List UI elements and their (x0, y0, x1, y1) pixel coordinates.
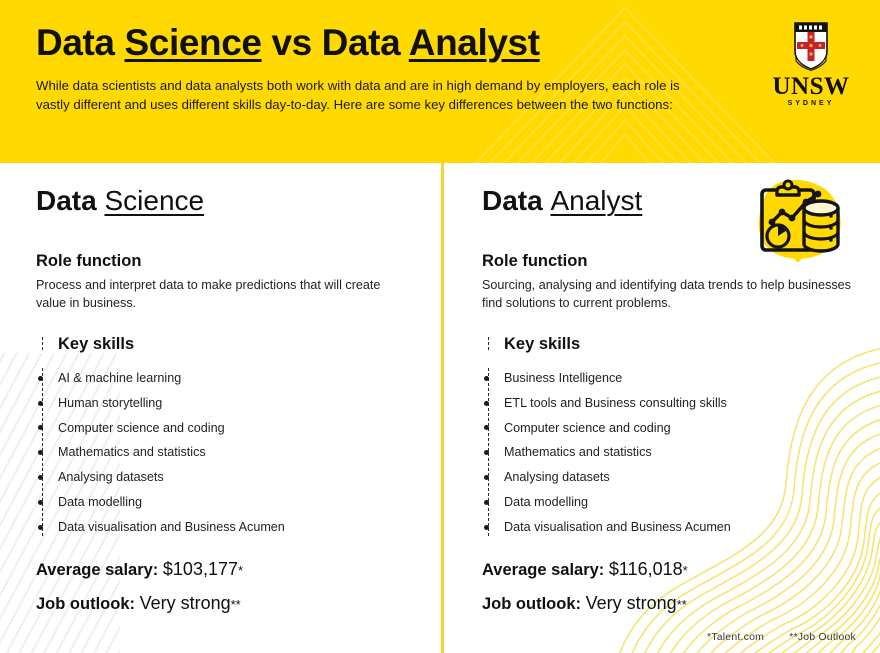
footnote-outlook-source: **Job Outlook (789, 631, 856, 643)
unsw-wordmark: UNSW (769, 74, 853, 99)
clipboard-analytics-icon (748, 176, 848, 266)
list-item: Data visualisation and Business Acumen (504, 515, 858, 540)
list-item: Analysing datasets (58, 465, 411, 490)
job-outlook-value: Very strong (140, 593, 231, 613)
list-item: ETL tools and Business consulting skills (504, 391, 858, 416)
average-salary-value: $116,018 (609, 559, 683, 579)
average-salary-row: Average salary: $103,177* (36, 559, 411, 580)
list-item: Data modelling (58, 490, 411, 515)
job-outlook-label: Job outlook: (36, 595, 135, 613)
average-salary-label: Average salary: (482, 561, 604, 579)
list-item: Computer science and coding (504, 416, 858, 441)
column-heading-bold: Data (36, 185, 104, 216)
column-divider (441, 163, 444, 653)
job-outlook-row: Job outlook: Very strong** (36, 593, 411, 614)
job-outlook-label: Job outlook: (482, 595, 581, 613)
job-outlook-row: Job outlook: Very strong** (482, 593, 858, 614)
key-skills-list: AI & machine learning Human storytelling… (36, 366, 411, 540)
list-item: Business Intelligence (504, 366, 858, 391)
job-outlook-value: Very strong (586, 593, 677, 613)
footnote-salary-source: *Talent.com (707, 631, 764, 643)
average-salary-value: $103,177 (163, 559, 238, 579)
list-item: Human storytelling (58, 391, 411, 416)
header-banner: Data Science vs Data Analyst While data … (0, 0, 880, 163)
footnotes: *Talent.com **Job Outlook (685, 631, 856, 643)
role-function-text: Sourcing, analysing and identifying data… (482, 277, 858, 313)
salary-footnote-marker: * (238, 563, 243, 578)
outlook-footnote-marker: ** (231, 597, 241, 612)
column-data-science: Data Science Role function Process and i… (0, 163, 441, 614)
column-heading-light: Science (104, 185, 204, 216)
average-salary-label: Average salary: (36, 561, 158, 579)
unsw-crest-icon (791, 21, 831, 71)
page-title: Data Science vs Data Analyst (36, 24, 880, 63)
role-function-text: Process and interpret data to make predi… (36, 277, 411, 313)
title-segment-3: vs Data (262, 22, 409, 63)
list-item: Analysing datasets (504, 465, 858, 490)
column-heading-bold: Data (482, 185, 550, 216)
header-subtitle: While data scientists and data analysts … (36, 76, 691, 114)
unsw-tagline: SYDNEY (769, 100, 853, 107)
title-segment-analyst: Analyst (409, 22, 540, 63)
list-item: Computer science and coding (58, 416, 411, 441)
unsw-logo: UNSW SYDNEY (769, 21, 853, 107)
key-skills-label: Key skills (482, 335, 858, 354)
list-item: AI & machine learning (58, 366, 411, 391)
title-segment-science: Science (124, 22, 261, 63)
key-skills-label: Key skills (36, 335, 411, 354)
column-heading: Data Science (36, 186, 411, 228)
average-salary-row: Average salary: $116,018* (482, 559, 858, 580)
list-item: Data visualisation and Business Acumen (58, 515, 411, 540)
column-heading-light: Analyst (550, 185, 642, 216)
list-item: Data modelling (504, 490, 858, 515)
role-function-label: Role function (36, 252, 411, 271)
list-item: Mathematics and statistics (504, 440, 858, 465)
list-item: Mathematics and statistics (58, 440, 411, 465)
outlook-footnote-marker: ** (677, 597, 687, 612)
salary-footnote-marker: * (683, 563, 688, 578)
title-segment-1: Data (36, 22, 124, 63)
key-skills-list: Business Intelligence ETL tools and Busi… (482, 366, 858, 540)
